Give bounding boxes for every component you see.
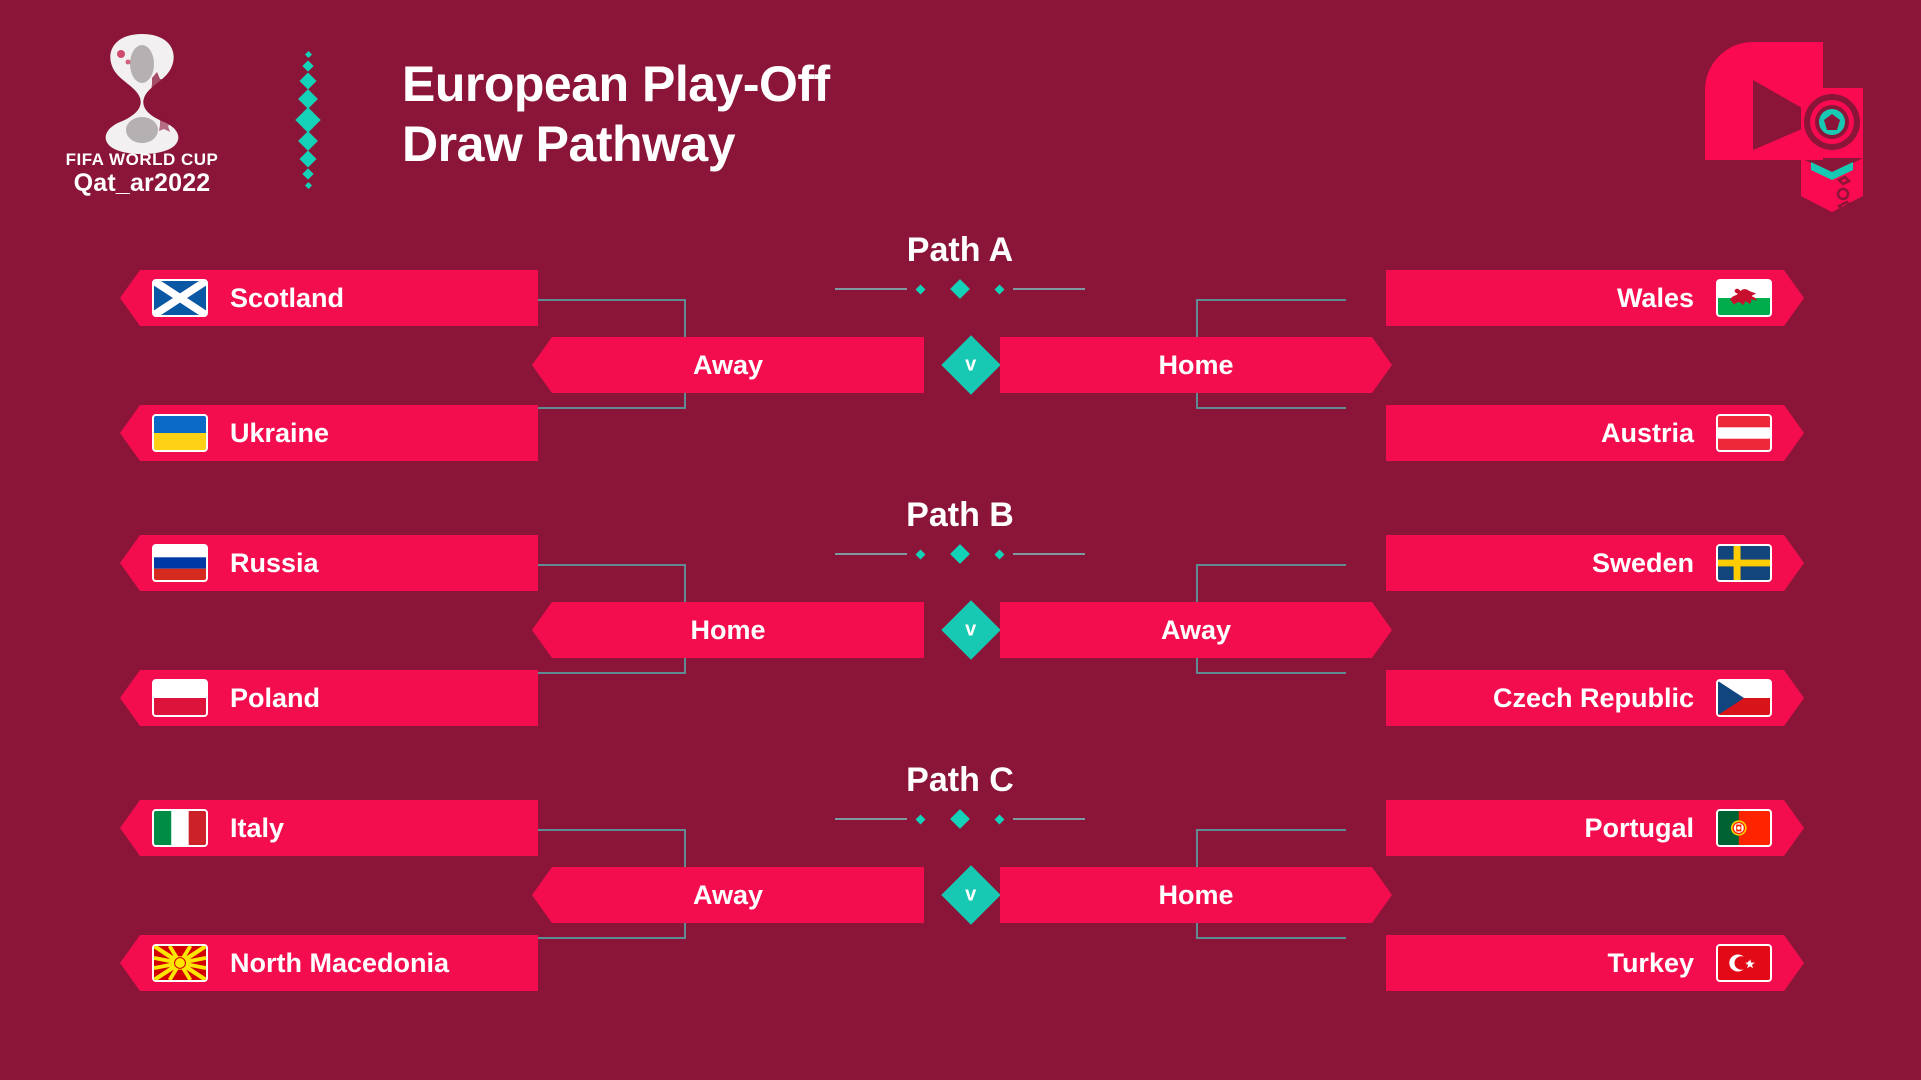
path-section-a: Path A Scotland	[0, 215, 1921, 480]
austria-flag-icon	[1716, 414, 1772, 452]
wales-flag-icon	[1716, 279, 1772, 317]
path-a-header: Path A	[760, 231, 1160, 297]
sweden-flag-icon	[1716, 544, 1772, 582]
versus-badge: v	[941, 600, 1000, 659]
team-name: Scotland	[230, 283, 344, 314]
path-c-header: Path C	[760, 761, 1160, 827]
path-a-divider	[835, 281, 1085, 297]
versus-label: v	[965, 620, 976, 640]
portugal-flag-icon	[1716, 809, 1772, 847]
venue-plate-left[interactable]: Away	[532, 867, 924, 923]
fifa-logo-caption: FIFA WORLD CUP Qat_ar2022	[62, 150, 222, 197]
team-plate-right[interactable]: Turkey	[1386, 935, 1804, 991]
team-name: Wales	[1617, 283, 1694, 314]
page-title-line-2: Draw Pathway	[402, 114, 1222, 174]
team-name: Italy	[230, 813, 284, 844]
team-plate-right[interactable]: Czech Republic	[1386, 670, 1804, 726]
team-plate-left[interactable]: Ukraine	[120, 405, 538, 461]
venue-label: Home	[1000, 350, 1392, 381]
venue-label: Away	[532, 880, 924, 911]
scotland-flag-icon	[152, 279, 208, 317]
team-name: Turkey	[1607, 948, 1694, 979]
north-macedonia-flag-icon	[152, 944, 208, 982]
venue-plate-right[interactable]: Away	[1000, 602, 1392, 658]
versus-label: v	[965, 885, 976, 905]
team-name: Ukraine	[230, 418, 329, 449]
team-plate-right[interactable]: Portugal	[1386, 800, 1804, 856]
fifa-world-cup-text: FIFA WORLD CUP	[62, 150, 222, 169]
path-b-header: Path B	[760, 496, 1160, 562]
path-section-c: Path C	[0, 745, 1921, 1010]
path-b-divider	[835, 546, 1085, 562]
team-name: Poland	[230, 683, 320, 714]
versus-badge: v	[941, 865, 1000, 924]
venue-plate-right[interactable]: Home	[1000, 337, 1392, 393]
team-plate-left[interactable]: North Macedonia	[120, 935, 538, 991]
team-name: North Macedonia	[230, 948, 449, 979]
team-name: Russia	[230, 548, 319, 579]
venue-label: Home	[1000, 880, 1392, 911]
venue-plate-left[interactable]: Away	[532, 337, 924, 393]
team-name: Portugal	[1584, 813, 1694, 844]
path-c-title: Path C	[760, 761, 1160, 799]
bracket-container: Path A Scotland	[0, 215, 1921, 1080]
diamond-divider-vertical	[296, 52, 320, 172]
venue-label: Away	[1000, 615, 1392, 646]
broadcaster-logo	[1683, 28, 1873, 218]
team-plate-left[interactable]: Italy	[120, 800, 538, 856]
team-plate-left[interactable]: Poland	[120, 670, 538, 726]
ukraine-flag-icon	[152, 414, 208, 452]
team-plate-left[interactable]: Scotland	[120, 270, 538, 326]
qatar-2022-text: Qat_ar2022	[62, 170, 222, 197]
fifa-world-cup-logo: FIFA WORLD CUP Qat_ar2022	[62, 26, 222, 196]
team-plate-right[interactable]: Wales	[1386, 270, 1804, 326]
infographic-root: FIFA WORLD CUP Qat_ar2022 European Play-…	[0, 0, 1921, 1080]
czech-republic-flag-icon	[1716, 679, 1772, 717]
page-title-line-1: European Play-Off	[402, 54, 1222, 114]
italy-flag-icon	[152, 809, 208, 847]
team-plate-right[interactable]: Austria	[1386, 405, 1804, 461]
page-title: European Play-Off Draw Pathway	[402, 54, 1222, 174]
team-name: Czech Republic	[1493, 683, 1694, 714]
team-name: Sweden	[1592, 548, 1694, 579]
russia-flag-icon	[152, 544, 208, 582]
team-name: Austria	[1601, 418, 1694, 449]
path-c-divider	[835, 811, 1085, 827]
path-section-b: Path B	[0, 480, 1921, 745]
venue-plate-left[interactable]: Home	[532, 602, 924, 658]
world-cup-trophy-emblem-icon	[62, 26, 222, 154]
team-plate-right[interactable]: Sweden	[1386, 535, 1804, 591]
venue-plate-right[interactable]: Home	[1000, 867, 1392, 923]
path-b-title: Path B	[760, 496, 1160, 534]
venue-label: Home	[532, 615, 924, 646]
path-a-title: Path A	[760, 231, 1160, 269]
versus-label: v	[965, 355, 976, 375]
poland-flag-icon	[152, 679, 208, 717]
versus-badge: v	[941, 335, 1000, 394]
team-plate-left[interactable]: Russia	[120, 535, 538, 591]
header: FIFA WORLD CUP Qat_ar2022 European Play-…	[0, 0, 1921, 215]
turkey-flag-icon	[1716, 944, 1772, 982]
venue-label: Away	[532, 350, 924, 381]
